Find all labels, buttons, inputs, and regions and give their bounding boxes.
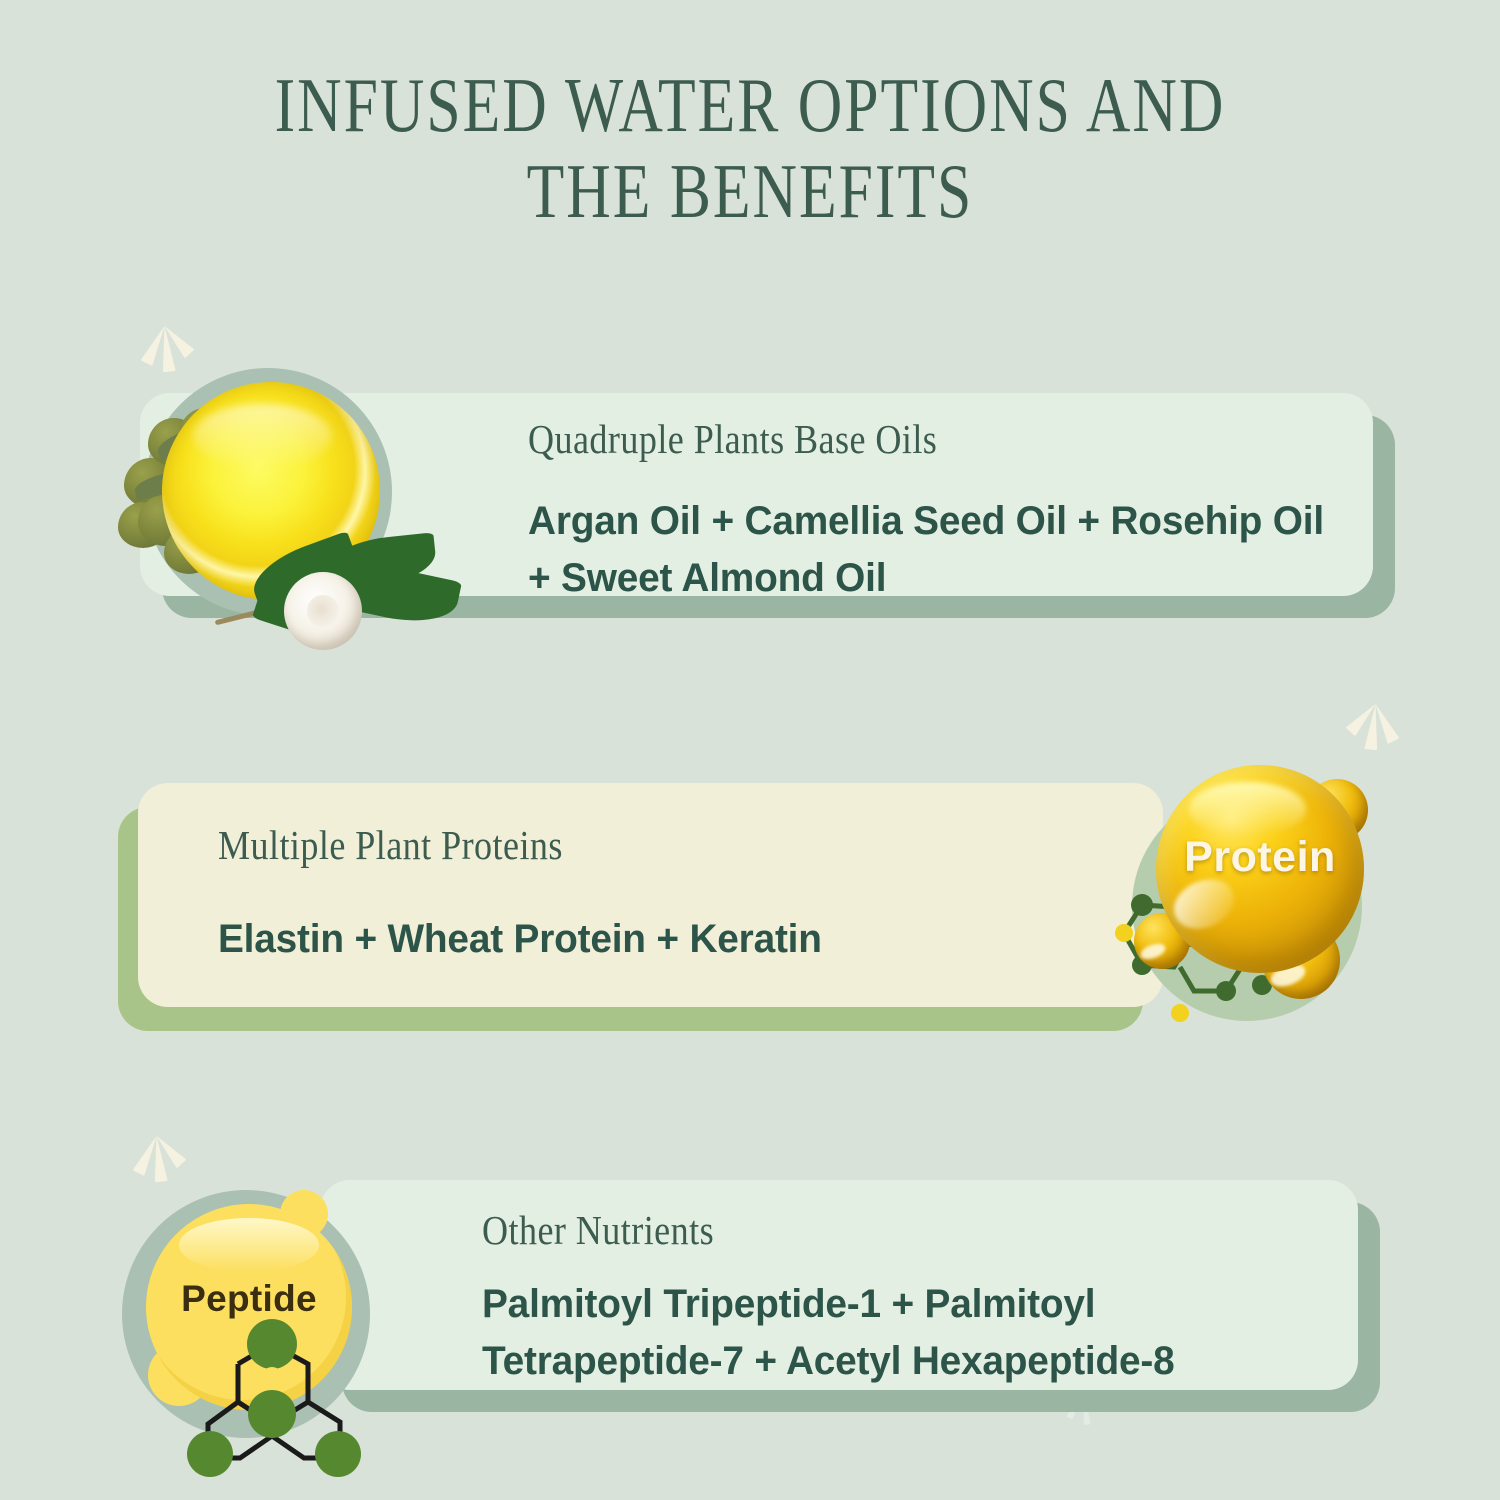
card-content: Quadruple Plants Base Oils Argan Oil + C… <box>528 415 1378 607</box>
oil-bowl-olives-camellia-image <box>118 352 478 662</box>
benefit-card-plant-proteins: Multiple Plant Proteins Elastin + Wheat … <box>118 783 1163 1031</box>
card-label: Other Nutrients <box>482 1206 1221 1254</box>
peptide-droplet-image: Peptide <box>112 1168 432 1468</box>
protein-badge-label: Protein <box>1156 833 1364 882</box>
benefit-card-other-nutrients: Other Nutrients Palmitoyl Tripeptide-1 +… <box>320 1180 1380 1412</box>
card-label: Multiple Plant Proteins <box>218 821 957 869</box>
molecule-structure-icon <box>112 1168 432 1468</box>
camellia-flower-icon <box>284 572 362 650</box>
card-content: Other Nutrients Palmitoyl Tripeptide-1 +… <box>482 1206 1322 1390</box>
card-value: Argan Oil + Camellia Seed Oil + Rosehip … <box>528 493 1353 607</box>
card-value: Palmitoyl Tripeptide-1 + Palmitoyl Tetra… <box>482 1276 1297 1390</box>
card-value: Elastin + Wheat Protein + Keratin <box>218 911 1033 968</box>
infographic-canvas: INFUSED WATER OPTIONS AND THE BENEFITS Q… <box>0 0 1500 1500</box>
page-title: INFUSED WATER OPTIONS AND THE BENEFITS <box>150 62 1350 234</box>
molecule-node-icon <box>261 1367 283 1389</box>
card-content: Multiple Plant Proteins Elastin + Wheat … <box>218 821 1058 968</box>
protein-droplet-image: Protein <box>1110 745 1410 1045</box>
card-label: Quadruple Plants Base Oils <box>528 415 1276 463</box>
